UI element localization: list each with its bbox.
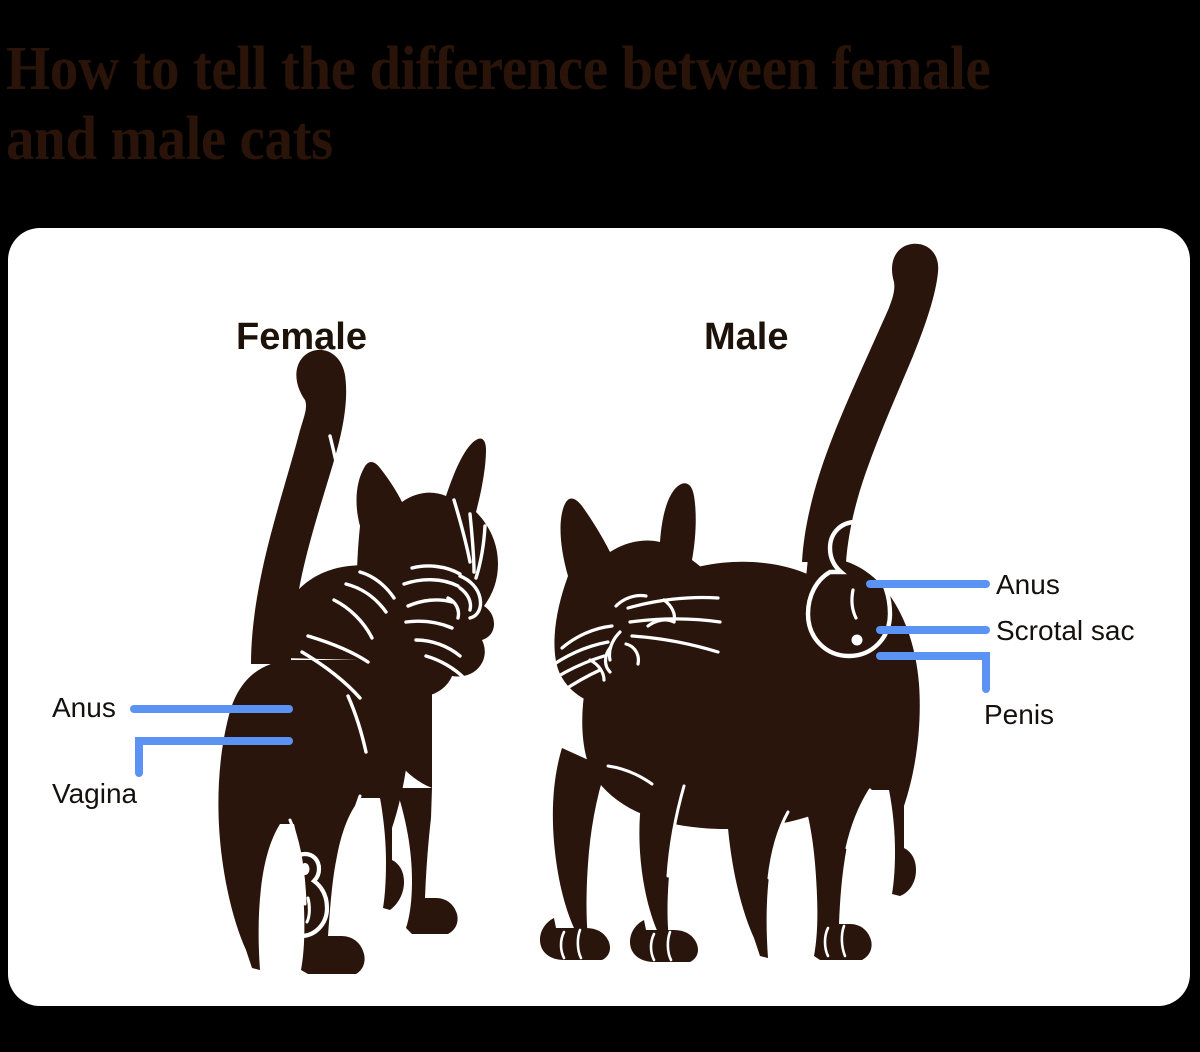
connector-male-penis: [880, 656, 986, 689]
callout-label-male-penis: Penis: [984, 699, 1054, 731]
column-heading-male: Male: [704, 316, 788, 358]
diagram-card: Female Male Anus Vagina Anus Scrotal sac…: [8, 228, 1190, 1006]
column-heading-female: Female: [236, 316, 367, 358]
callout-label-male-anus: Anus: [996, 569, 1060, 601]
connector-female-vagina: [139, 741, 289, 773]
callout-label-female-vagina: Vagina: [52, 778, 137, 810]
callout-label-male-scrotal-sac: Scrotal sac: [996, 615, 1135, 647]
page-title: How to tell the difference between femal…: [6, 34, 1073, 174]
callout-label-female-anus: Anus: [52, 692, 116, 724]
